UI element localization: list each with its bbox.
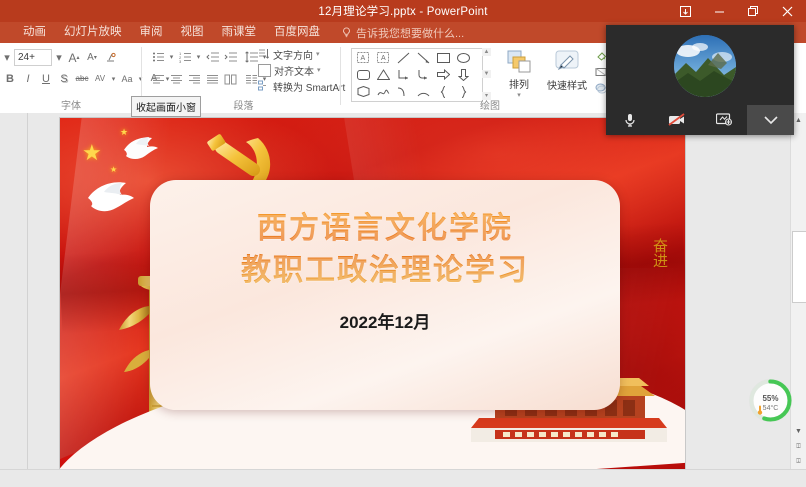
slide-artwork: ★ ★ ★ — [60, 118, 685, 470]
shape-rectangle-icon[interactable] — [433, 49, 453, 66]
clear-formatting-icon[interactable] — [102, 50, 118, 66]
shape-vertical-textbox-icon[interactable]: A — [373, 49, 393, 66]
shape-line-icon[interactable] — [393, 49, 413, 66]
shape-right-arrow-icon[interactable] — [433, 66, 453, 83]
svg-text:A: A — [381, 55, 386, 62]
slide-title-line1: 西方语言文化学院 — [150, 208, 620, 250]
close-button[interactable] — [770, 0, 804, 22]
underline-button[interactable]: U — [38, 71, 54, 87]
microphone-button[interactable] — [606, 105, 653, 135]
slide-canvas[interactable]: ★ ★ ★ — [60, 118, 685, 470]
tab-rain-classroom[interactable]: 雨课堂 — [213, 22, 266, 43]
align-center-button[interactable] — [168, 71, 184, 87]
character-spacing-button[interactable]: AV — [92, 71, 108, 87]
shape-rounded-rect-icon[interactable] — [353, 66, 373, 83]
meeting-video-panel[interactable] — [606, 25, 794, 135]
status-bar — [0, 469, 806, 487]
minimize-button[interactable] — [702, 0, 736, 22]
collapse-panel-button[interactable] — [747, 105, 794, 135]
shape-arrow-icon[interactable] — [413, 49, 433, 66]
ribbon-group-drawing: A A ▲ ▼ ▾ — [345, 43, 635, 113]
shape-gallery-scrollbar[interactable]: ▲ ▼ ▾ — [482, 48, 491, 100]
shape-oval-icon[interactable] — [453, 49, 473, 66]
window-buttons — [668, 0, 804, 22]
shape-curved-arrow-icon[interactable] — [413, 66, 433, 83]
font-name-overflow[interactable]: ▾ — [2, 50, 12, 65]
peace-dove-icon — [82, 174, 142, 216]
tell-me-text: 告诉我您想要做什么... — [356, 25, 464, 41]
peace-dove-icon — [116, 130, 166, 164]
font-size-input[interactable]: 24+ — [14, 49, 52, 66]
arrange-button[interactable]: 排列 ▾ — [497, 47, 541, 99]
text-columns-button[interactable] — [243, 71, 259, 87]
title-bar: 12月理论学习.pptx - PowerPoint — [0, 0, 806, 22]
ribbon-group-font: ▾ 24+ ▾ A▴ A▾ B I U S abc AV — [0, 43, 142, 113]
share-screen-button[interactable] — [700, 105, 747, 135]
collapse-tooltip: 收起画面小窗 — [131, 96, 201, 117]
grow-font-button[interactable]: A▴ — [66, 50, 82, 66]
decrease-indent-button[interactable] — [204, 49, 220, 65]
microphone-icon — [622, 112, 638, 128]
gauge-percent-symbol: % — [771, 394, 778, 403]
font-size-value: 24+ — [18, 52, 35, 63]
tell-me-box[interactable]: 告诉我您想要做什么... — [341, 25, 464, 41]
bold-button[interactable]: B — [2, 71, 18, 87]
justify-button[interactable] — [204, 71, 220, 87]
five-star-icon: ★ — [110, 166, 117, 174]
tab-view[interactable]: 视图 — [172, 22, 213, 43]
numbering-button[interactable]: 123 — [177, 49, 193, 65]
shape-elbow-arrow-icon[interactable] — [393, 66, 413, 83]
slide-title-line2: 教职工政治理论学习 — [150, 250, 620, 292]
slide-side-text: 奋进 — [647, 238, 669, 268]
align-text-button[interactable]: 对齐文本 ▾ — [258, 62, 345, 78]
restore-button[interactable] — [736, 0, 770, 22]
convert-smartart-button[interactable]: 转换为 SmartArt — [258, 78, 345, 94]
align-left-button[interactable] — [150, 71, 166, 87]
shape-down-arrow-icon[interactable] — [453, 66, 473, 83]
increase-indent-button[interactable] — [222, 49, 238, 65]
slide-date: 2022年12月 — [150, 308, 620, 333]
text-shadow-button[interactable]: S — [56, 71, 72, 87]
camera-off-icon — [668, 113, 686, 127]
svg-text:3: 3 — [179, 59, 182, 63]
gauge-temperature: 54°C — [747, 405, 794, 412]
line-spacing-button[interactable] — [243, 49, 259, 65]
slide-title: 西方语言文化学院 教职工政治理论学习 — [150, 208, 620, 292]
tab-animations[interactable]: 动画 — [14, 22, 55, 43]
shrink-font-button[interactable]: A▾ — [84, 50, 100, 66]
char-spacing-dropdown-icon[interactable]: ▾ — [110, 71, 117, 87]
avatar — [674, 35, 736, 97]
align-text-icon — [258, 64, 271, 77]
shape-gallery-scroll-up[interactable]: ▲ — [482, 48, 491, 56]
gauge-percent: 55% — [747, 388, 794, 404]
numbering-dropdown-icon[interactable]: ▾ — [195, 49, 202, 65]
change-case-button[interactable]: Aa — [119, 71, 135, 87]
five-star-icon: ★ — [82, 142, 102, 164]
shape-textbox-icon[interactable]: A — [353, 49, 373, 66]
convert-smartart-label: 转换为 SmartArt — [273, 79, 345, 94]
camera-button[interactable] — [653, 105, 700, 135]
group-label-drawing: 绘图 — [345, 97, 635, 112]
smartart-icon — [258, 80, 270, 92]
meeting-controls — [606, 105, 794, 135]
arrange-label: 排列 — [509, 76, 529, 91]
cpu-gauge-widget[interactable]: 55% 54°C — [747, 377, 794, 424]
slide-thumbnail-pane[interactable] — [0, 113, 28, 469]
char-spacing-label: AV — [95, 71, 105, 87]
tab-overflow-left — [0, 22, 14, 43]
italic-button[interactable]: I — [20, 71, 36, 87]
group-label-font: 字体 — [0, 97, 142, 112]
shape-gallery-scroll-down[interactable]: ▼ — [482, 70, 491, 78]
share-screen-icon — [716, 113, 732, 127]
quick-styles-icon — [553, 47, 581, 77]
text-direction-icon — [258, 48, 270, 60]
strikethrough-button[interactable]: abc — [74, 71, 90, 87]
lightbulb-icon — [341, 27, 352, 38]
powerpoint-window: 12月理论学习.pptx - PowerPoint 动画 幻灯片放映 审阅 视图… — [0, 0, 806, 486]
tab-baidu-netdisk[interactable]: 百度网盘 — [265, 22, 329, 43]
bullets-button[interactable] — [150, 49, 166, 65]
ribbon-options-button[interactable] — [668, 0, 702, 22]
bullets-dropdown-icon[interactable]: ▾ — [168, 49, 175, 65]
next-slide-button[interactable]: ⍗ — [791, 454, 806, 469]
tab-slideshow[interactable]: 幻灯片放映 — [55, 22, 131, 43]
quick-styles-button[interactable]: 快速样式 — [545, 47, 589, 99]
previous-slide-button[interactable]: ⍐ — [791, 439, 806, 454]
font-size-dropdown-icon[interactable]: ▾ — [54, 50, 64, 65]
tab-review[interactable]: 审阅 — [131, 22, 172, 43]
quick-styles-label: 快速样式 — [547, 77, 587, 92]
chevron-down-icon — [763, 115, 779, 125]
align-right-button[interactable] — [186, 71, 202, 87]
scroll-thumb[interactable] — [792, 231, 806, 303]
arrange-icon — [505, 47, 533, 76]
columns-button[interactable] — [222, 71, 238, 87]
scroll-down-button[interactable]: ▼ — [791, 424, 806, 439]
text-direction-dropdown-icon[interactable]: ▾ — [316, 50, 320, 58]
align-text-label: 对齐文本 — [274, 63, 314, 78]
shape-triangle-icon[interactable] — [373, 66, 393, 83]
shape-gallery[interactable]: A A — [351, 48, 483, 102]
text-direction-label: 文字方向 — [273, 47, 313, 62]
editing-workspace: ★ ★ ★ — [0, 113, 806, 469]
text-direction-button[interactable]: 文字方向 ▾ — [258, 46, 345, 62]
slide-title-card[interactable]: 西方语言文化学院 教职工政治理论学习 2022年12月 — [150, 180, 620, 410]
svg-text:A: A — [361, 55, 366, 62]
align-text-dropdown-icon[interactable]: ▾ — [317, 66, 321, 74]
